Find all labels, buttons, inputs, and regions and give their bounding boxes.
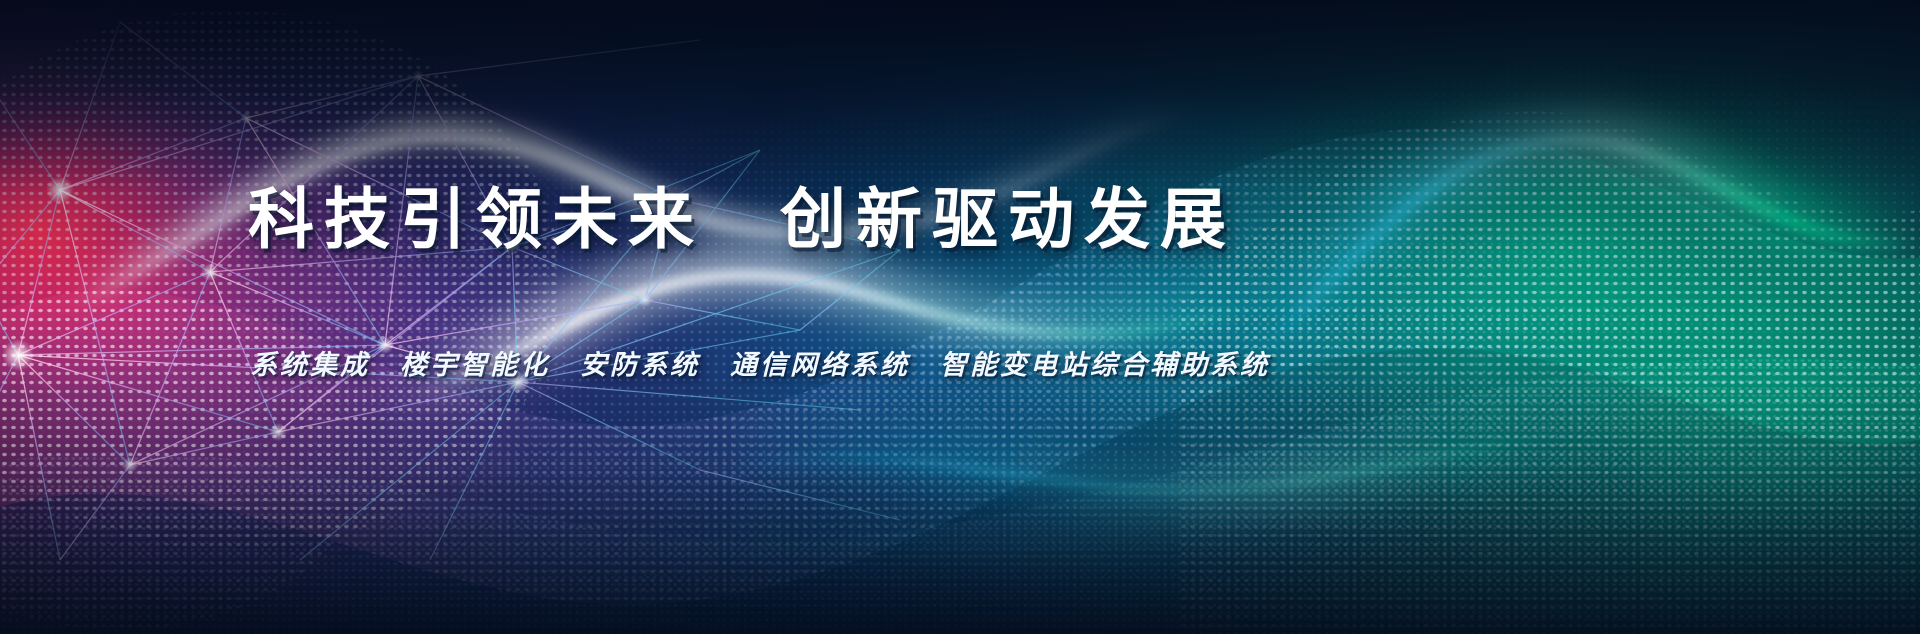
tech-banner: 科技引领未来 创新驱动发展 系统集成 楼宇智能化 安防系统 通信网络系统 智能变… xyxy=(0,0,1920,634)
network-edges-left xyxy=(0,22,700,560)
network-edges-right xyxy=(300,150,900,560)
polygon-network-overlay xyxy=(0,0,1920,634)
